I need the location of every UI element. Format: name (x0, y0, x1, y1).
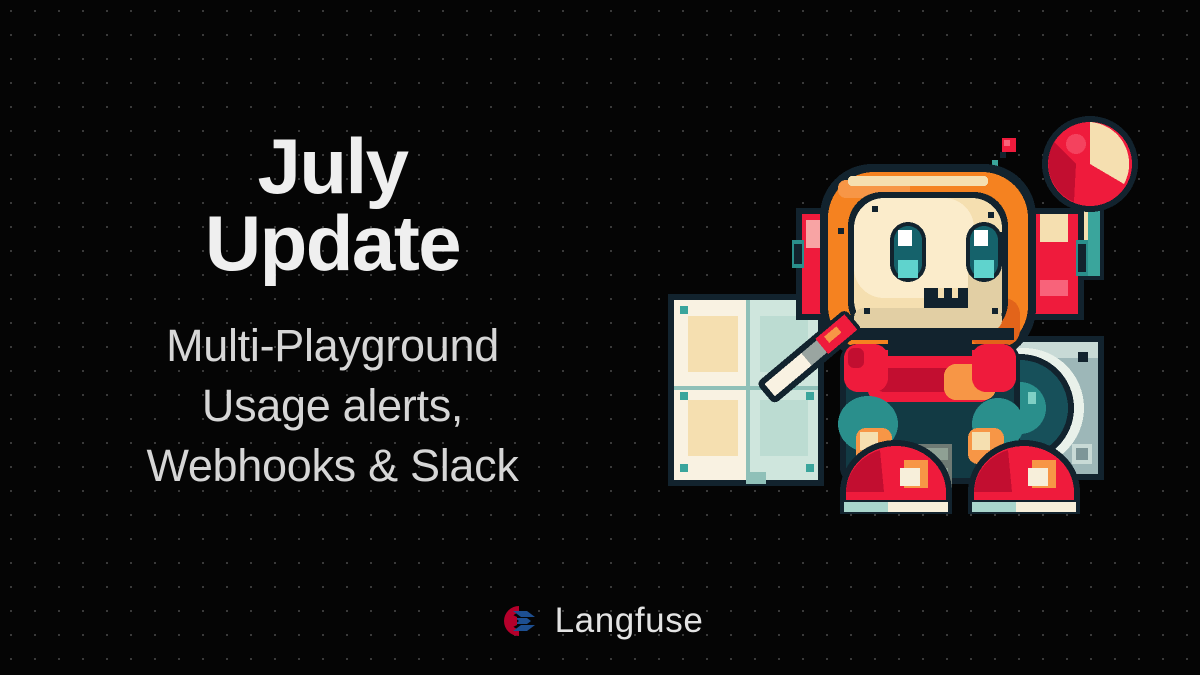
robot-illustration-svg (648, 108, 1148, 528)
langfuse-wordmark: Langfuse (555, 603, 704, 638)
text-column: July Update Multi-Playground Usage alert… (60, 128, 605, 496)
page-title: July Update (60, 128, 605, 282)
canvas-grid-icon (668, 294, 824, 486)
subtitle: Multi-Playground Usage alerts, Webhooks … (60, 316, 605, 496)
brand-lockup: Langfuse (0, 603, 1200, 638)
langfuse-mark-svg (497, 604, 537, 638)
slide-canvas: July Update Multi-Playground Usage alert… (0, 0, 1200, 675)
langfuse-logo-icon (497, 604, 537, 638)
pixel-art-robot-mascot (648, 108, 1148, 528)
